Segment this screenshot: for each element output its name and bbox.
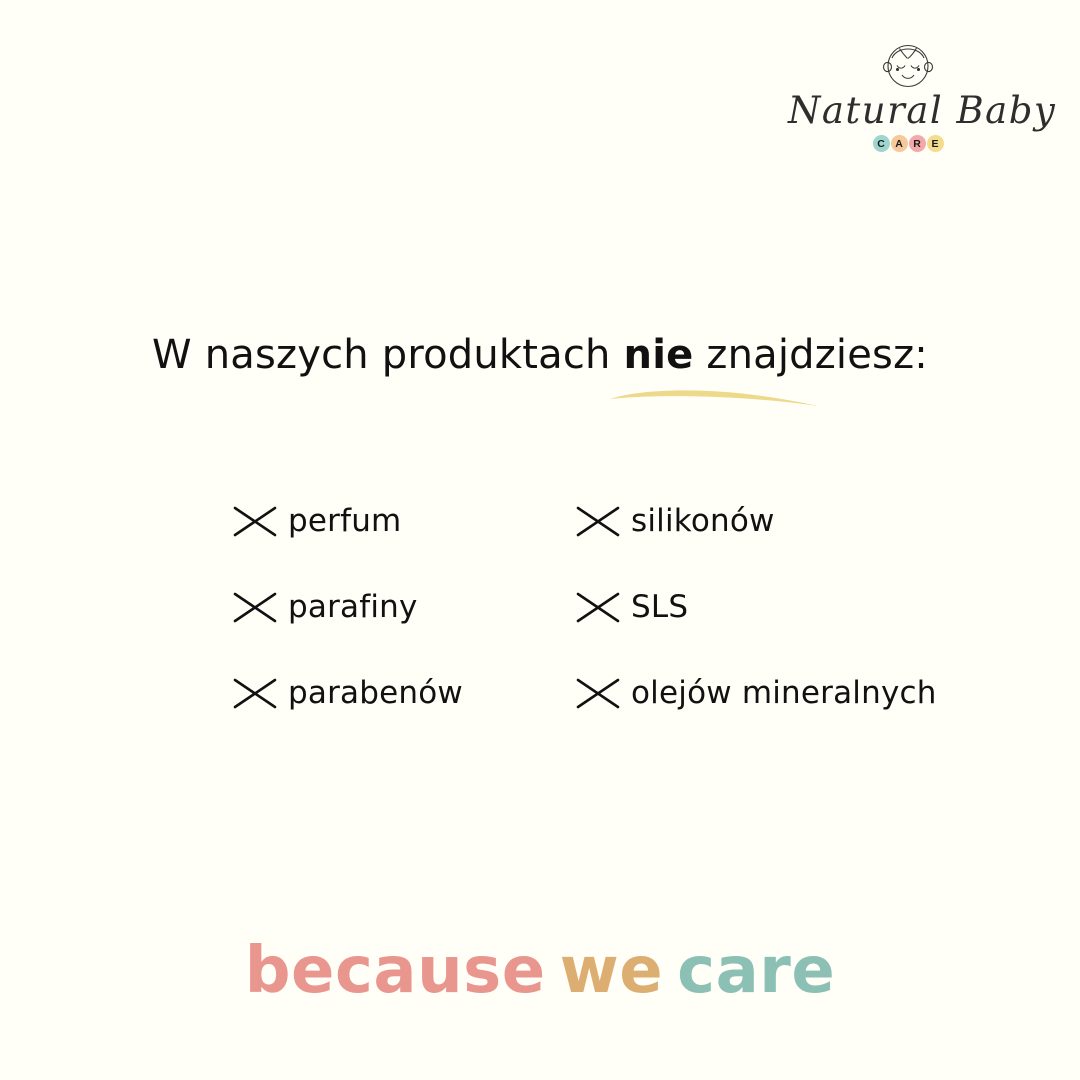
bead-r: R — [909, 135, 926, 152]
list-item-label: parabenów — [288, 678, 463, 709]
x-mark-icon — [575, 674, 621, 712]
x-mark-icon — [232, 502, 278, 540]
headline-part1: W naszych produktach — [152, 332, 624, 378]
list-item: parabenów — [232, 650, 463, 736]
bead-c: C — [873, 135, 890, 152]
tagline-word-we: we — [560, 934, 664, 1008]
headline-container: W naszych produktach nie znajdziesz: — [0, 332, 1080, 378]
list-column-left: perfum parafiny parabenów — [232, 478, 463, 736]
x-mark-icon — [575, 588, 621, 626]
tagline-word-because: because — [245, 934, 546, 1008]
x-mark-icon — [575, 502, 621, 540]
bead-e: E — [927, 135, 944, 152]
care-beads: C A R E — [788, 135, 1028, 152]
list-item: perfum — [232, 478, 463, 564]
list-item-label: parafiny — [288, 592, 418, 623]
headline-part2: znajdziesz: — [693, 332, 928, 378]
headline-emphasis: nie — [624, 332, 694, 378]
tagline-word-care: care — [677, 934, 835, 1008]
list-column-right: silikonów SLS olejów mineralnych — [575, 478, 937, 736]
brand-logo: Natural Baby C A R E — [788, 36, 1028, 166]
tagline: becausewecare — [0, 934, 1080, 1008]
list-item-label: silikonów — [631, 506, 775, 537]
x-mark-icon — [232, 588, 278, 626]
list-item-label: SLS — [631, 592, 688, 623]
x-mark-icon — [232, 674, 278, 712]
brand-name: Natural Baby — [788, 92, 1028, 129]
list-item: olejów mineralnych — [575, 650, 937, 736]
list-item-label: olejów mineralnych — [631, 678, 937, 709]
brush-underline-icon — [608, 383, 820, 409]
list-item: SLS — [575, 564, 937, 650]
page-title: W naszych produktach nie znajdziesz: — [152, 332, 928, 378]
baby-face-icon — [876, 36, 940, 94]
excluded-ingredients-list: perfum parafiny parabenów silikonów S — [0, 478, 1080, 728]
list-item: parafiny — [232, 564, 463, 650]
list-item: silikonów — [575, 478, 937, 564]
bead-a: A — [891, 135, 908, 152]
list-item-label: perfum — [288, 506, 401, 537]
